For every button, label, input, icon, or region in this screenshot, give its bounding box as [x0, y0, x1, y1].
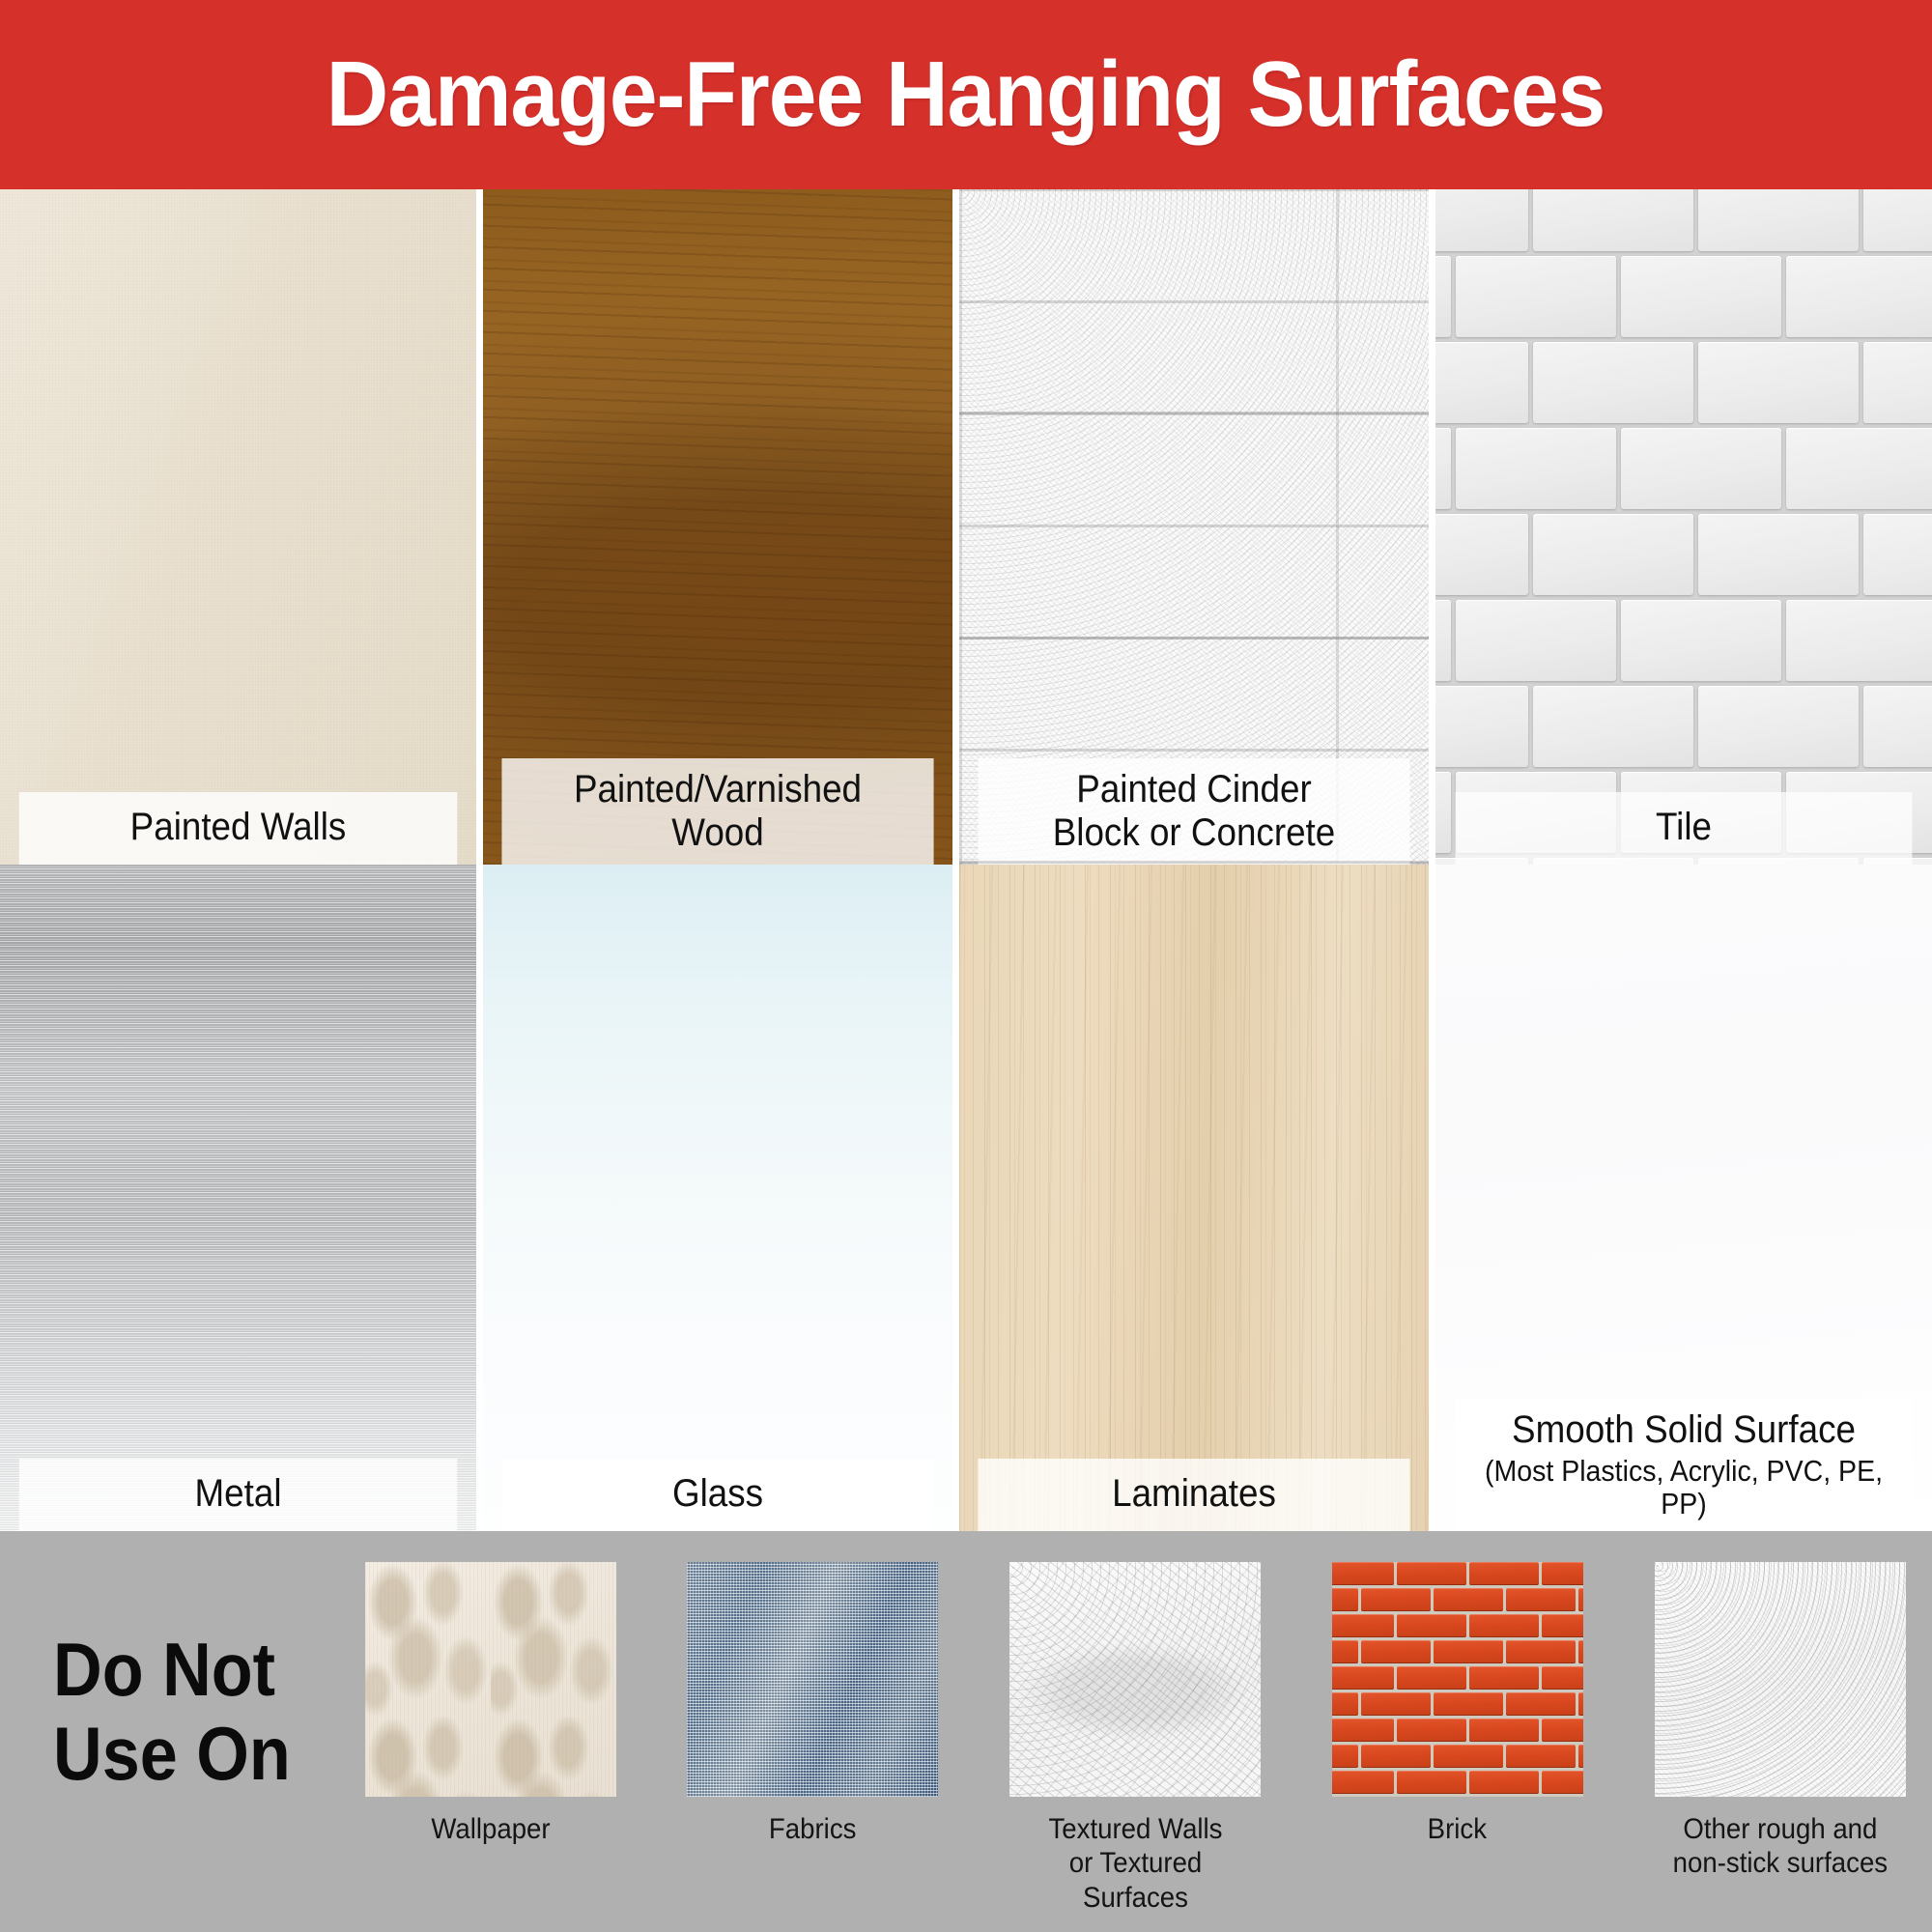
brick-unit: [1578, 1745, 1583, 1768]
do-not-use-item-other-rough[interactable]: Other rough and non-stick surfaces: [1652, 1562, 1908, 1881]
surface-tile-laminates[interactable]: Laminates: [959, 865, 1429, 1531]
surface-tile-painted-walls[interactable]: Painted Walls: [0, 189, 476, 865]
brick-unit: [1361, 1745, 1431, 1768]
item-label: Other rough and non-stick surfaces: [1672, 1812, 1887, 1881]
subway-tile-unit: [1435, 256, 1451, 337]
wallpaper-swatch: [365, 1562, 616, 1797]
brick-unit: [1332, 1666, 1394, 1690]
surface-tile-metal[interactable]: Metal: [0, 865, 476, 1531]
grid-gutter: [1429, 189, 1435, 865]
subway-tile-unit: [1456, 600, 1616, 681]
brick-unit: [1542, 1719, 1583, 1742]
brick-unit: [1397, 1614, 1466, 1637]
item-label: Brick: [1428, 1812, 1487, 1846]
grid-gutter: [1429, 865, 1435, 1531]
rough-surface-swatch: [1655, 1562, 1906, 1797]
brick-unit: [1397, 1719, 1466, 1742]
surface-label: Glass: [501, 1459, 933, 1531]
brick-unit: [1578, 1588, 1583, 1611]
subway-tile-unit: [1786, 600, 1932, 681]
subway-tile-unit: [1533, 686, 1693, 767]
item-label: Wallpaper: [431, 1812, 550, 1846]
subway-tile-unit: [1698, 342, 1859, 423]
brick-unit: [1469, 1666, 1539, 1690]
brick-unit: [1397, 1666, 1466, 1690]
brick-unit: [1542, 1614, 1583, 1637]
surface-tile-smooth-solid-surface[interactable]: Smooth Solid Surface (Most Plastics, Acr…: [1435, 865, 1932, 1531]
brick-unit: [1361, 1692, 1431, 1716]
brick-swatch: [1332, 1562, 1583, 1797]
infographic-page: Damage-Free Hanging Surfaces Painted Wal…: [0, 0, 1932, 1932]
brick-unit: [1332, 1692, 1358, 1716]
grid-gutter: [476, 865, 483, 1531]
brick-unit: [1469, 1771, 1539, 1794]
subway-tile-unit: [1435, 686, 1528, 767]
surface-label-main: Smooth Solid Surface: [1512, 1408, 1856, 1451]
brick-unit: [1578, 1640, 1583, 1663]
subway-tile-unit: [1621, 600, 1781, 681]
subway-tile-unit: [1786, 428, 1932, 509]
subway-tile-unit: [1435, 600, 1451, 681]
subway-tile-unit: [1533, 514, 1693, 595]
surface-label: Tile: [1456, 792, 1913, 865]
brick-unit: [1361, 1640, 1431, 1663]
surface-tile-painted-cinder-block[interactable]: Painted Cinder Block or Concrete: [959, 189, 1429, 865]
do-not-use-item-wallpaper[interactable]: Wallpaper: [362, 1562, 618, 1846]
do-not-use-item-fabrics[interactable]: Fabrics: [685, 1562, 941, 1846]
header-banner: Damage-Free Hanging Surfaces: [0, 0, 1932, 189]
subway-tile-unit: [1698, 189, 1859, 251]
surface-label: Laminates: [978, 1459, 1409, 1531]
brick-unit: [1361, 1588, 1431, 1611]
brick-unit: [1332, 1771, 1394, 1794]
subway-tile-unit: [1435, 514, 1528, 595]
do-not-use-heading: Do Not Use On: [53, 1628, 291, 1797]
brick-unit: [1332, 1614, 1394, 1637]
brick-unit: [1434, 1692, 1503, 1716]
brick-unit: [1397, 1771, 1466, 1794]
brick-unit: [1332, 1719, 1394, 1742]
subway-tile-unit: [1698, 686, 1859, 767]
brick-unit: [1542, 1562, 1583, 1585]
subway-tile-unit: [1621, 256, 1781, 337]
do-not-use-section: Do Not Use On Wallpaper Fabrics Textured…: [0, 1531, 1932, 1932]
surface-label: Painted Walls: [19, 792, 458, 865]
subway-tile-unit: [1456, 256, 1616, 337]
subway-tile-unit: [1698, 514, 1859, 595]
subway-tile-unit: [1533, 189, 1693, 251]
subway-tile-unit: [1435, 772, 1451, 853]
surface-label: Smooth Solid Surface (Most Plastics, Acr…: [1456, 1399, 1913, 1531]
subway-tile-unit: [1863, 189, 1932, 251]
subway-tile-pattern: [1435, 189, 1932, 865]
brick-unit: [1506, 1640, 1576, 1663]
subway-tile-unit: [1456, 428, 1616, 509]
brick-unit: [1506, 1745, 1576, 1768]
brick-unit: [1332, 1640, 1358, 1663]
surface-label: Painted Cinder Block or Concrete: [978, 758, 1409, 865]
item-label: Textured Walls or Textured Surfaces: [1017, 1812, 1253, 1915]
fabric-swatch: [687, 1562, 938, 1797]
brick-unit: [1506, 1692, 1576, 1716]
subway-tile-unit: [1863, 686, 1932, 767]
subway-tile-unit: [1533, 342, 1693, 423]
subway-tile-unit: [1863, 514, 1932, 595]
surface-tile-painted-varnished-wood[interactable]: Painted/Varnished Wood: [483, 189, 952, 865]
brick-unit: [1469, 1614, 1539, 1637]
subway-tile-unit: [1435, 428, 1451, 509]
surface-label: Metal: [19, 1459, 458, 1531]
approved-surfaces-grid: Painted Walls Painted/Varnished Wood Pai…: [0, 189, 1932, 1531]
subway-tile-unit: [1786, 256, 1932, 337]
brick-unit: [1469, 1562, 1539, 1585]
subway-tile-unit: [1435, 342, 1528, 423]
brick-unit: [1434, 1640, 1503, 1663]
surface-label: Painted/Varnished Wood: [501, 758, 933, 865]
brick-unit: [1397, 1562, 1466, 1585]
do-not-use-items: Wallpaper Fabrics Textured Walls or Text…: [362, 1562, 1908, 1919]
item-label: Fabrics: [769, 1812, 856, 1846]
brick-unit: [1332, 1745, 1358, 1768]
brick-unit: [1469, 1719, 1539, 1742]
grid-gutter: [952, 865, 959, 1531]
grid-gutter: [476, 189, 483, 865]
surface-label-sub: (Most Plastics, Acrylic, PVC, PE, PP): [1461, 1455, 1907, 1521]
subway-tile-unit: [1435, 189, 1528, 251]
brick-unit: [1434, 1588, 1503, 1611]
subway-tile-unit: [1621, 428, 1781, 509]
subway-tile-unit: [1863, 342, 1932, 423]
grid-gutter: [952, 189, 959, 865]
do-not-use-item-textured-walls[interactable]: Textured Walls or Textured Surfaces: [1008, 1562, 1264, 1915]
brick-unit: [1542, 1666, 1583, 1690]
brick-unit: [1542, 1771, 1583, 1794]
brick-unit: [1434, 1745, 1503, 1768]
brick-unit: [1578, 1692, 1583, 1716]
page-title: Damage-Free Hanging Surfaces: [327, 42, 1605, 148]
do-not-use-item-brick[interactable]: Brick: [1329, 1562, 1585, 1846]
brick-unit: [1332, 1562, 1394, 1585]
textured-wall-swatch: [1009, 1562, 1261, 1797]
brick-unit: [1332, 1588, 1358, 1611]
surface-tile-tile[interactable]: Tile: [1435, 189, 1932, 865]
surface-tile-glass[interactable]: Glass: [483, 865, 952, 1531]
brick-unit: [1506, 1588, 1576, 1611]
